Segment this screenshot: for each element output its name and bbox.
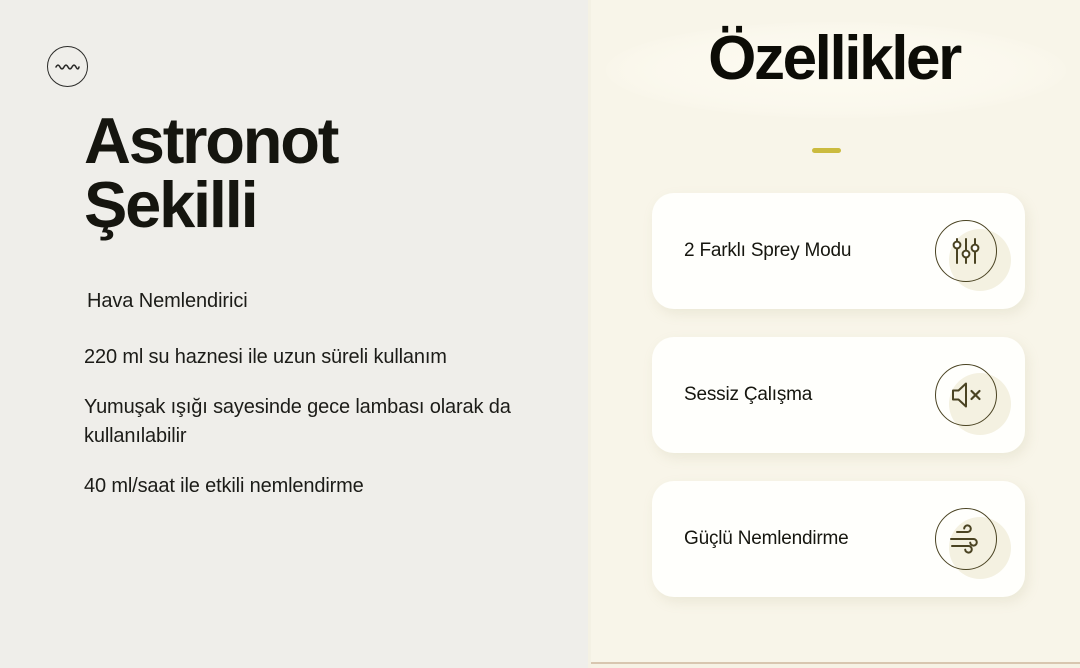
product-subtitle: Hava Nemlendirici bbox=[87, 288, 248, 315]
bottom-accent-strip bbox=[591, 662, 1080, 664]
wave-circle-logo-icon bbox=[47, 46, 88, 87]
panel-divider bbox=[588, 0, 591, 668]
headline-line-1: Astronot bbox=[84, 109, 554, 173]
bullet-output-rate: 40 ml/saat ile etkili nemlendirme bbox=[84, 472, 564, 500]
features-heading: Özellikler bbox=[588, 28, 1080, 90]
page-title: Astronot Şekilli bbox=[84, 109, 554, 238]
features-panel: Özellikler 2 Farklı Sprey Modu bbox=[588, 0, 1080, 668]
title-underline-accent bbox=[812, 148, 841, 153]
feature-bullet-list: 220 ml su haznesi ile uzun süreli kullan… bbox=[84, 343, 564, 501]
product-info-panel: Astronot Şekilli Hava Nemlendirici 220 m… bbox=[0, 0, 588, 668]
feature-card-label: 2 Farklı Sprey Modu bbox=[684, 240, 935, 262]
icon-well bbox=[935, 220, 997, 282]
feature-card-strong-humidification[interactable]: Güçlü Nemlendirme bbox=[652, 481, 1025, 597]
sliders-icon bbox=[935, 220, 997, 282]
icon-well bbox=[935, 508, 997, 570]
promo-page: Astronot Şekilli Hava Nemlendirici 220 m… bbox=[0, 0, 1080, 668]
headline-line-2: Şekilli bbox=[84, 173, 554, 237]
feature-card-label: Sessiz Çalışma bbox=[684, 384, 935, 406]
feature-card-spray-modes[interactable]: 2 Farklı Sprey Modu bbox=[652, 193, 1025, 309]
bullet-capacity: 220 ml su haznesi ile uzun süreli kullan… bbox=[84, 343, 564, 371]
icon-well bbox=[935, 364, 997, 426]
bottom-edge-fill bbox=[591, 664, 1080, 668]
speaker-mute-icon bbox=[935, 364, 997, 426]
feature-card-quiet-operation[interactable]: Sessiz Çalışma bbox=[652, 337, 1025, 453]
feature-card-list: 2 Farklı Sprey Modu bbox=[652, 193, 1025, 597]
bullet-night-light: Yumuşak ışığı sayesinde gece lambası ola… bbox=[84, 393, 564, 450]
feature-card-label: Güçlü Nemlendirme bbox=[684, 528, 935, 550]
wind-icon bbox=[935, 508, 997, 570]
